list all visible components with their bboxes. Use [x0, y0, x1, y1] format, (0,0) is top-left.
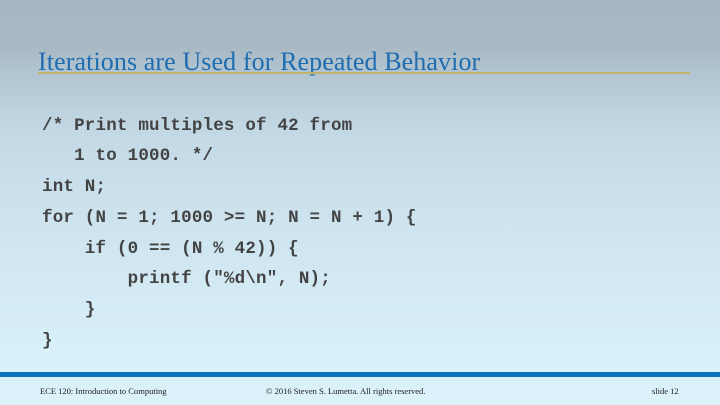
code-line: for (N = 1; 1000 >= N; N = N + 1) {: [42, 203, 417, 234]
code-block: /* Print multiples of 42 from 1 to 1000.…: [42, 111, 417, 357]
code-line: if (0 == (N % 42)) {: [42, 234, 417, 265]
code-line: }: [42, 326, 417, 357]
footer-slide-number: slide 12: [652, 386, 679, 396]
footer-copyright-label: © 2016 Steven S. Lumetta. All rights res…: [266, 386, 425, 396]
code-line: /* Print multiples of 42 from: [42, 111, 417, 142]
slide-canvas: Iterations are Used for Repeated Behavio…: [0, 0, 720, 405]
footer-course-label: ECE 120: Introduction to Computing: [40, 386, 167, 396]
code-line: int N;: [42, 172, 417, 203]
code-line: 1 to 1000. */: [42, 141, 417, 172]
code-line: printf ("%d\n", N);: [42, 264, 417, 295]
footer-divider-bar: [0, 372, 720, 377]
title-underline-rule: [38, 72, 690, 74]
code-line: }: [42, 295, 417, 326]
